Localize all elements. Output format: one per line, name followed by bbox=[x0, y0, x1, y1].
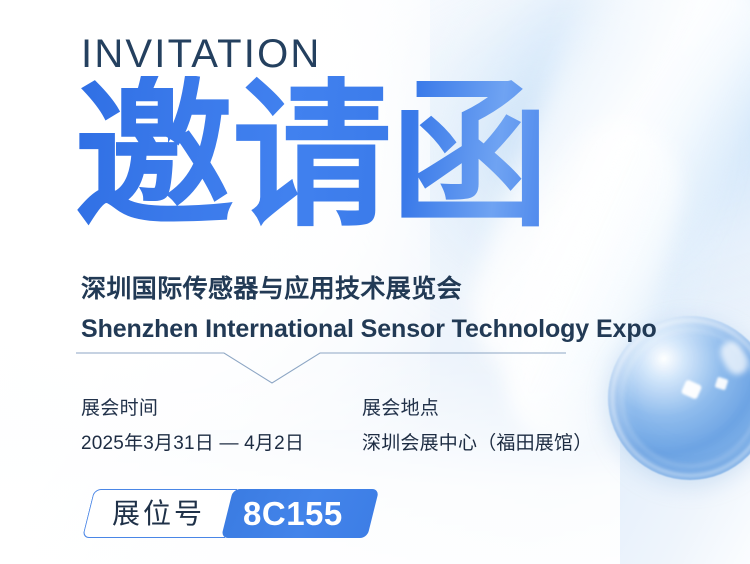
booth-label: 展位号 bbox=[112, 500, 205, 528]
booth-label-panel: 展位号 bbox=[82, 489, 225, 538]
booth-number-badge: 展位号 8C155 bbox=[82, 489, 367, 538]
divider-with-notch bbox=[76, 352, 566, 390]
invitation-poster: INVITATION 邀请函 深圳国际传感器与应用技术展览会 Shenzhen … bbox=[0, 0, 750, 564]
subtitle-english: Shenzhen International Sensor Technology… bbox=[81, 317, 657, 342]
event-date-value: 2025年3月31日 — 4月2日 bbox=[81, 434, 362, 453]
booth-value-panel: 8C155 bbox=[221, 489, 367, 538]
event-info: 展会时间 2025年3月31日 — 4月2日 展会地点 深圳会展中心（福田展馆） bbox=[81, 399, 641, 453]
event-date-block: 展会时间 2025年3月31日 — 4月2日 bbox=[81, 399, 362, 453]
event-venue-label: 展会地点 bbox=[362, 399, 641, 418]
poster-content: INVITATION 邀请函 深圳国际传感器与应用技术展览会 Shenzhen … bbox=[0, 0, 750, 564]
event-venue-block: 展会地点 深圳会展中心（福田展馆） bbox=[362, 399, 641, 453]
event-venue-value: 深圳会展中心（福田展馆） bbox=[362, 434, 641, 453]
page-title: 邀请函 bbox=[74, 76, 548, 236]
event-date-label: 展会时间 bbox=[81, 399, 362, 418]
booth-value: 8C155 bbox=[243, 497, 343, 530]
divider-line-icon bbox=[76, 352, 566, 390]
subtitle-chinese: 深圳国际传感器与应用技术展览会 bbox=[81, 277, 462, 302]
